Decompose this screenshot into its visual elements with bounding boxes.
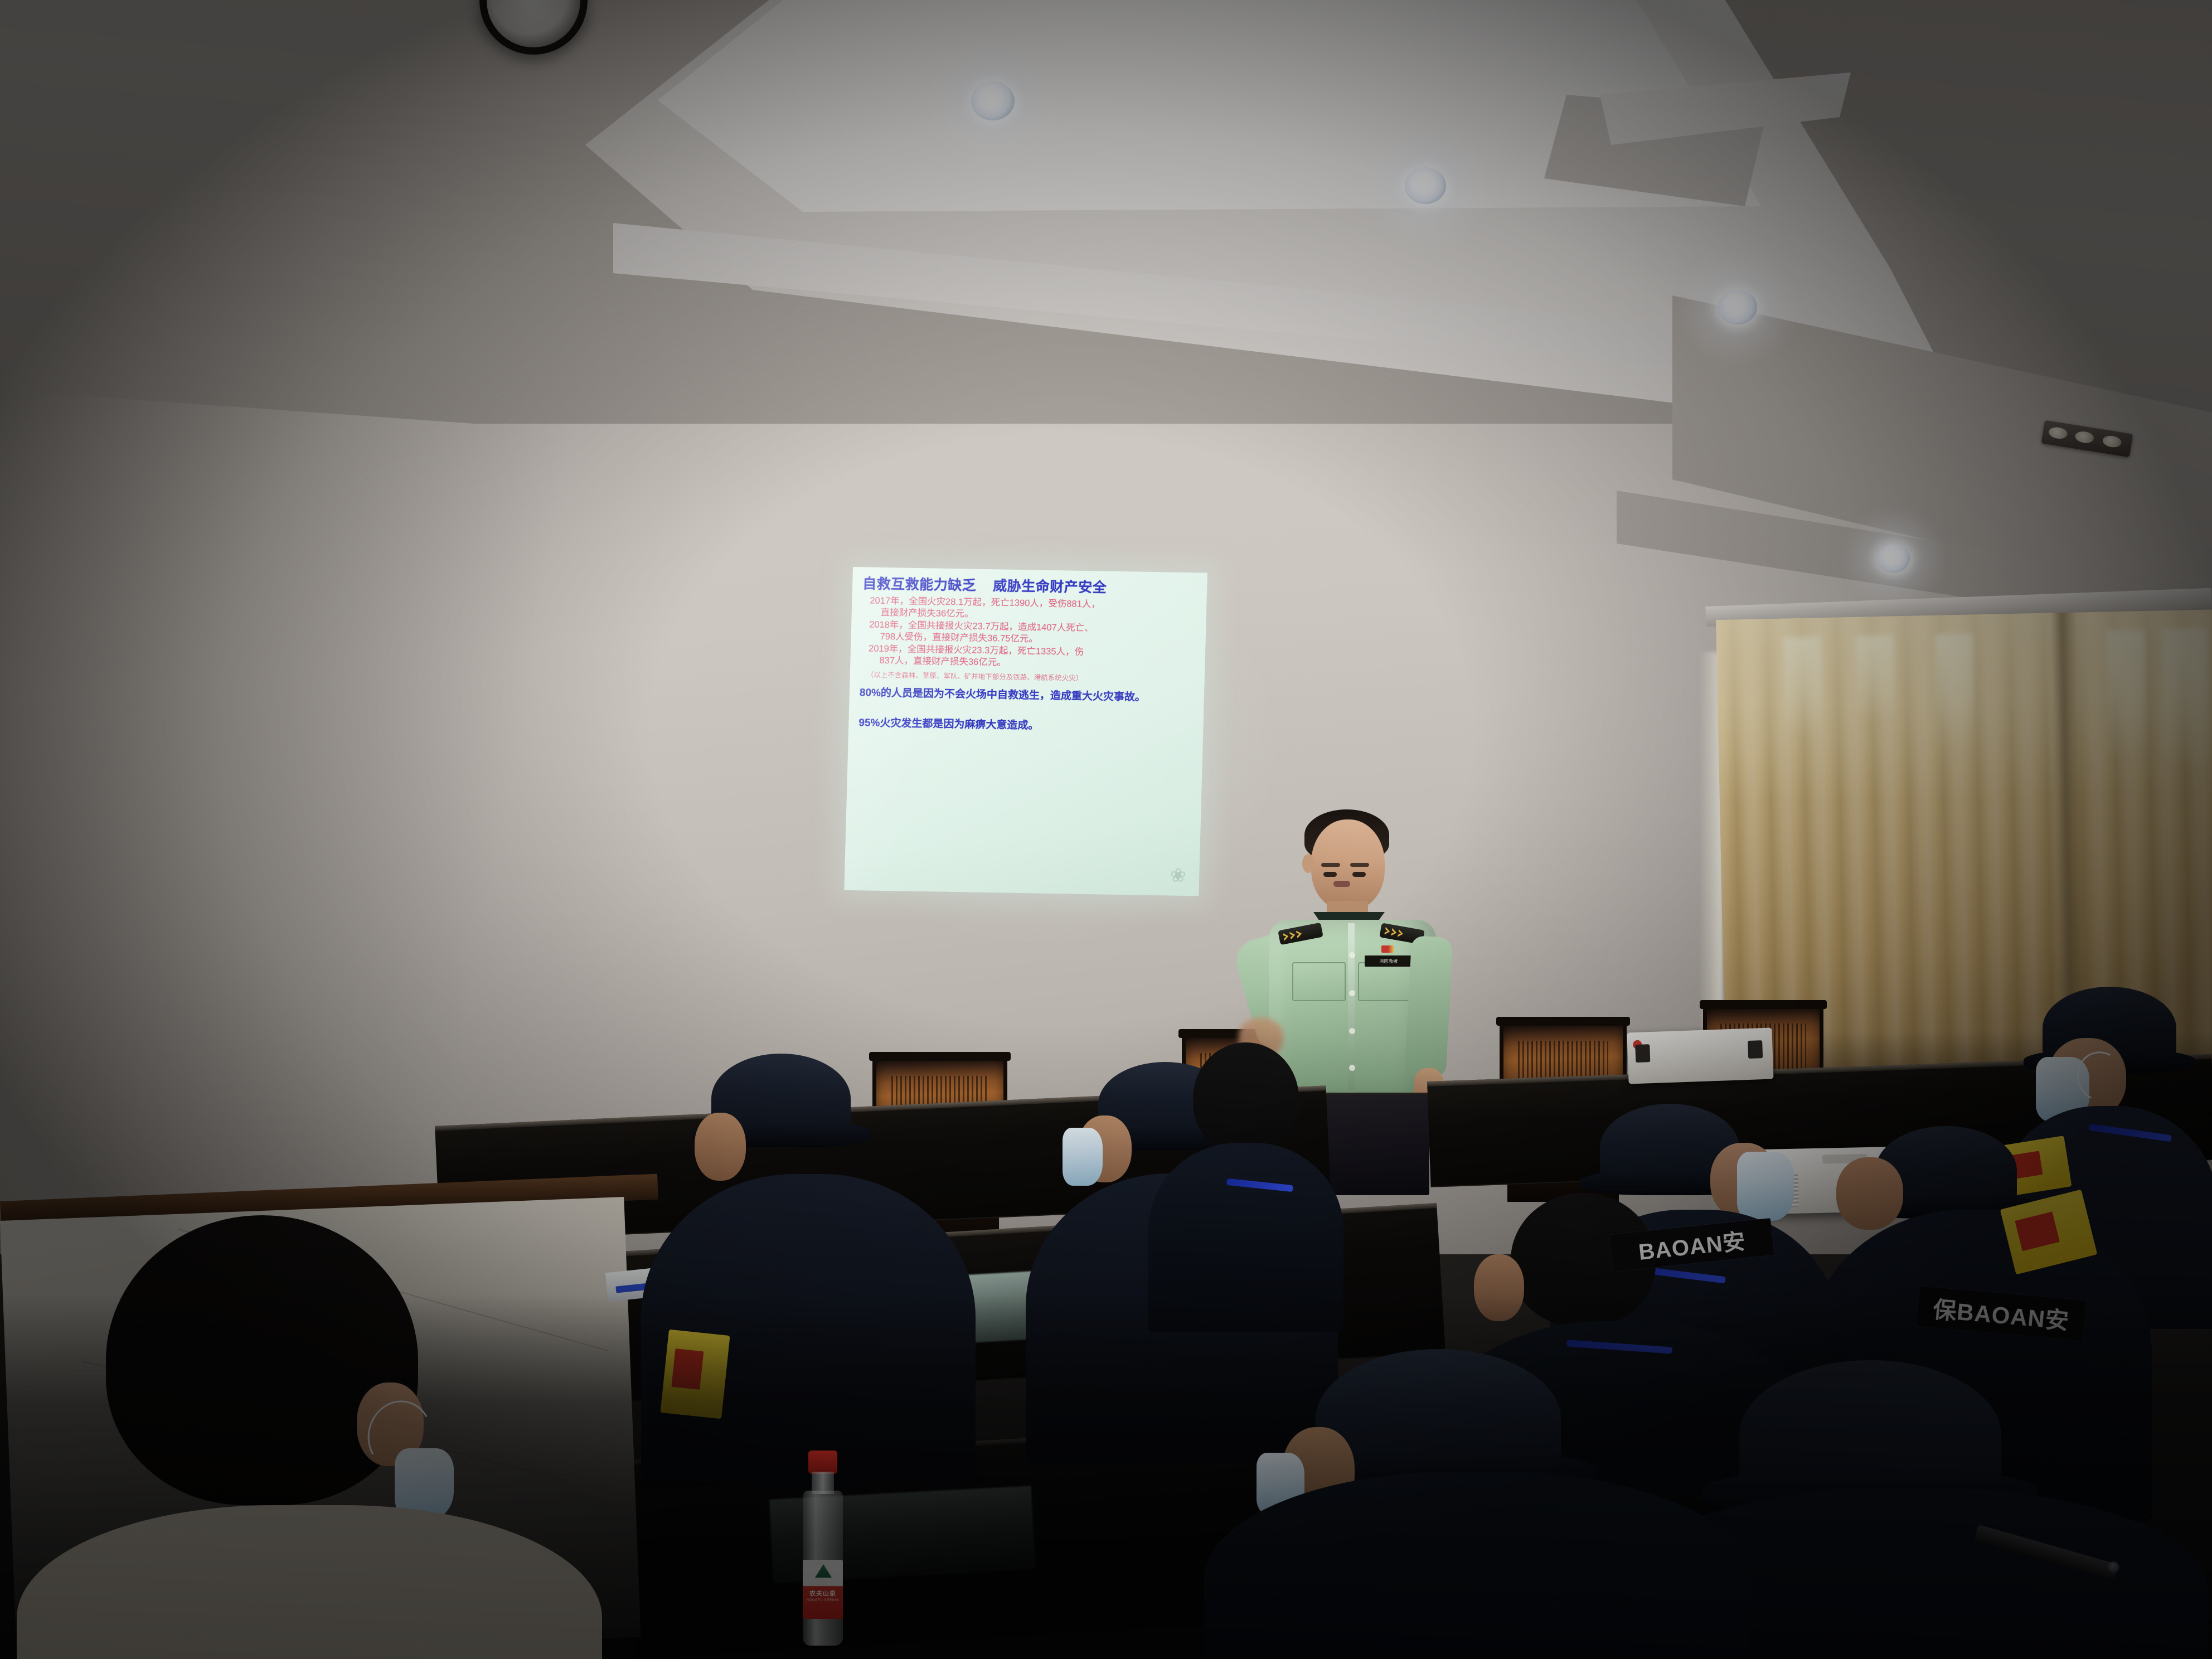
mountain-logo-icon [815,1564,832,1578]
projector-case [1627,1027,1773,1084]
downlight-icon [1405,167,1446,204]
downlight-icon [1718,290,1757,324]
presenter-name-tag-label: 消防救援 [1379,958,1398,964]
water-bottle: 农夫山泉 NONGFU SPRING [798,1451,846,1646]
slide-highlight-1: 80%的人员是因为不会火场中自救逃生，造成重大火灾事故。 [860,686,1197,705]
presenter-ear [1302,854,1314,873]
bottle-label: 农夫山泉 NONGFU SPRING [803,1560,843,1619]
attendee-front-left [67,1215,557,1659]
attendee-head [1193,1042,1299,1154]
bottle-brand-cn: 农夫山泉 [803,1589,843,1598]
security-armband [660,1330,730,1419]
attendee-face [1836,1157,1903,1230]
downlight-icon [971,81,1015,120]
slide-highlight-2: 95%火灾发生都是因为麻痹大意造成。 [858,716,1196,735]
attendee-ear [1474,1254,1524,1321]
attendee-beige-sweater [17,1505,602,1659]
presenter-pocket [1358,962,1411,1001]
downlight-icon [1878,544,1910,573]
presenter-pocket [1292,962,1346,1001]
bottle-brand-en: NONGFU SPRING [803,1599,843,1602]
bottle-cap [808,1451,837,1474]
attendee-foreground-center [1249,1349,1706,1659]
projected-slide: 自救互救能力缺乏威胁生命财产安全 2017年，全国火灾28.1万起，死亡1390… [844,567,1207,896]
attendee-face [695,1113,746,1181]
slide-statistics: 2017年，全国火灾28.1万起，死亡1390人，受伤881人， 直接财产损失3… [860,595,1199,672]
slide-watermark-icon: ❀ [1163,861,1193,890]
attendee-cap-left [680,1054,920,1477]
attendee-head [106,1215,418,1505]
attendee-torso [641,1174,976,1486]
presenter-head [1311,819,1385,910]
attendee-torso [1148,1143,1343,1332]
presenter-flag-pin-icon [1381,945,1394,953]
presenter-mouth [1333,881,1350,887]
attendee-torso [1204,1472,1750,1659]
slide-footnote: （以上不含森林、草原、军队、矿井地下部分及铁路、港航系统火灾） [860,671,1197,685]
training-room-photo: 自救互救能力缺乏威胁生命财产安全 2017年，全国火灾28.1万起，死亡1390… [0,0,2212,1659]
face-mask [1063,1128,1103,1186]
presenter-right-arm [1405,935,1453,1077]
presenter-name-tag: 消防救援 [1365,955,1413,967]
attendee-behind-desk [1160,1042,1327,1332]
slide-title: 自救互救能力缺乏威胁生命财产安全 [862,576,1200,597]
